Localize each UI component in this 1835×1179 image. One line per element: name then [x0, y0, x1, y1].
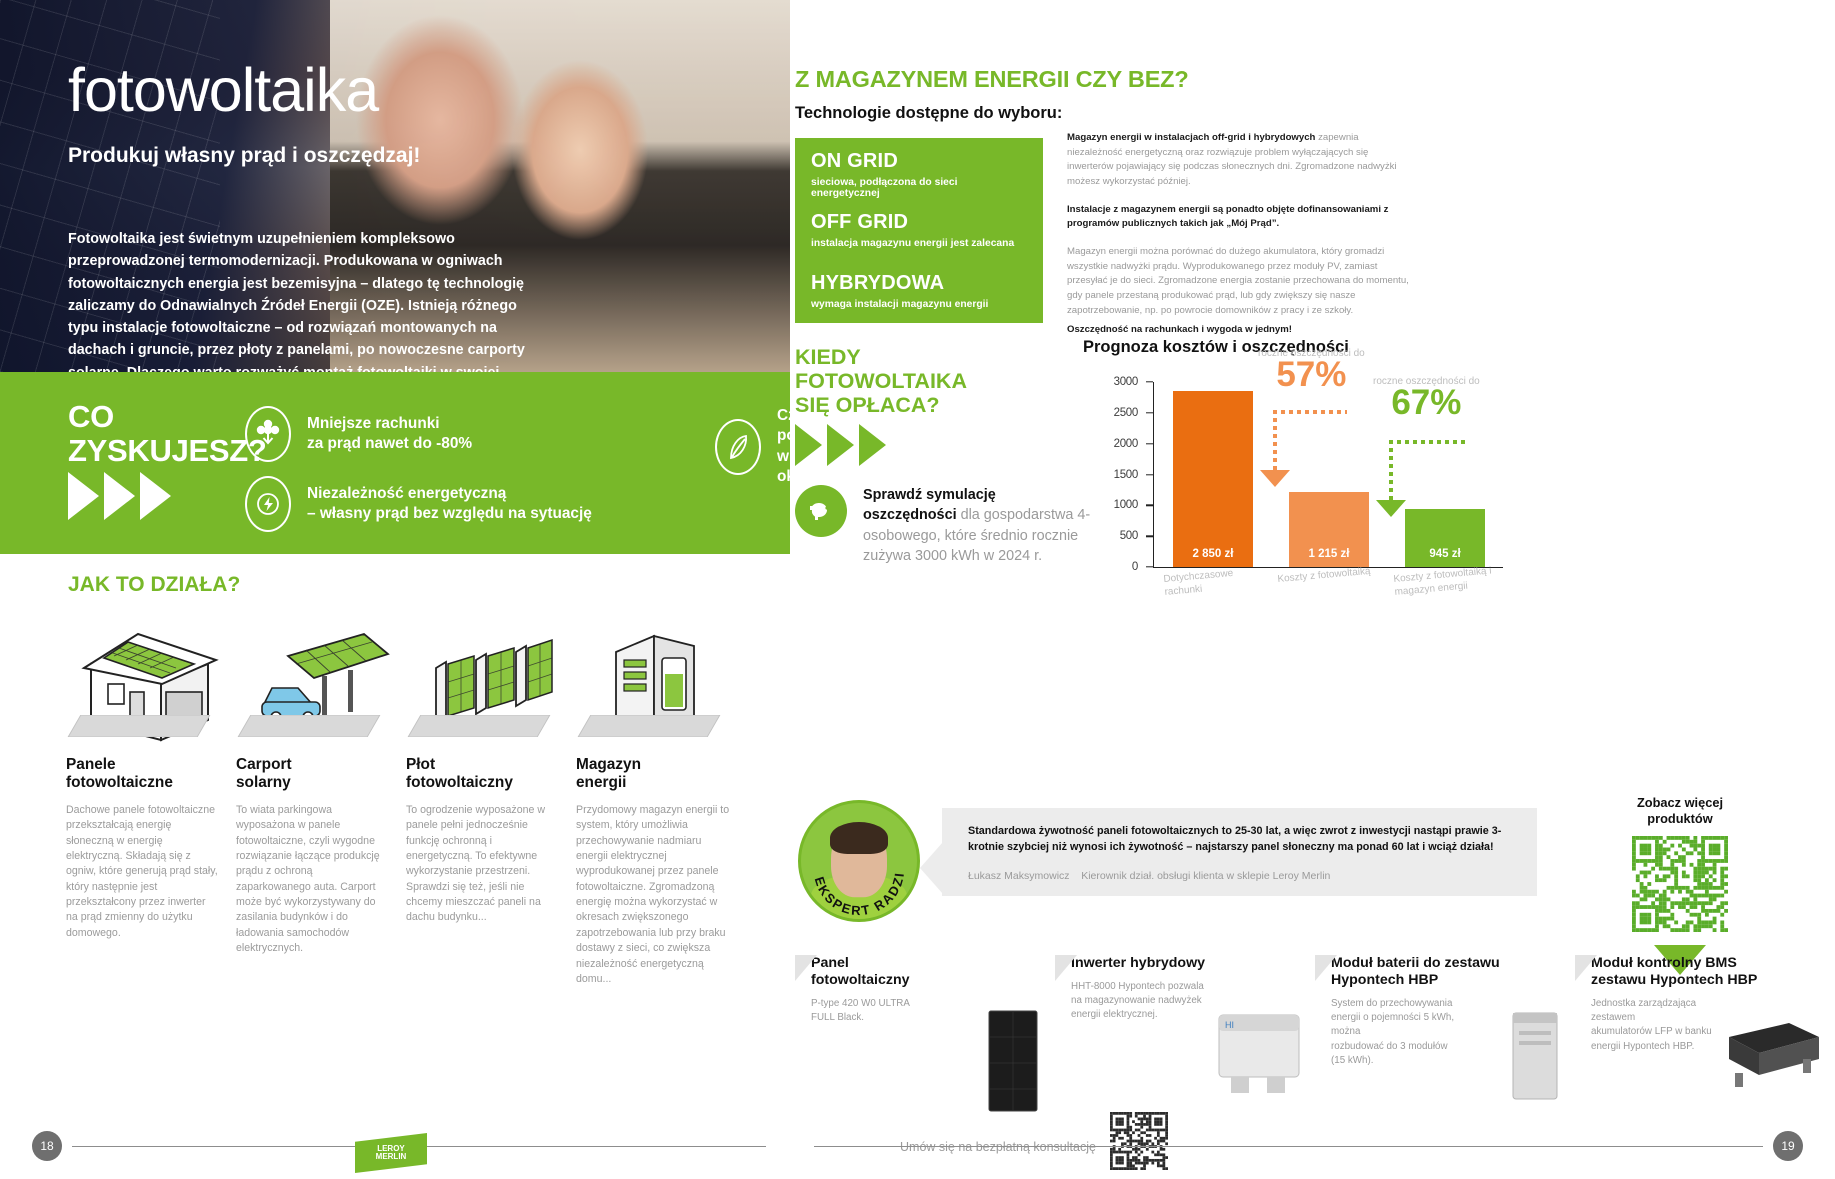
- platform-shape: [68, 715, 211, 737]
- tech-desc: sieciowa, podłączona do sieci energetycz…: [811, 177, 1029, 199]
- annotation-value: 57%: [1258, 357, 1365, 392]
- benefit-label: Mniejsze rachunki za prąd nawet do -80%: [307, 414, 472, 455]
- chart-bar-value: 2 850 zł: [1173, 548, 1253, 560]
- product-text: HHT-8000 Hypontech pozwala na magazynowa…: [1071, 980, 1221, 1023]
- arrow-right-icon: [827, 424, 854, 466]
- y-tick-mark: [1146, 443, 1153, 444]
- chart-bar-cell: 2 850 zł: [1155, 382, 1271, 567]
- annotation-connector-h: [1389, 440, 1465, 444]
- benefit-item-bills: Mniejsze rachunki za prąd nawet do -80%: [245, 406, 472, 462]
- chart-bar: 945 zł: [1405, 509, 1485, 567]
- tech-name: OFF GRID: [811, 211, 1029, 234]
- y-tick-label: 3000: [1114, 376, 1138, 388]
- step-text: To wiata parkingowa wyposażona w panele …: [236, 803, 390, 957]
- product-text: P-type 420 W0 ULTRA FULL Black.: [811, 997, 961, 1025]
- y-tick-label: 2000: [1114, 438, 1138, 450]
- qr-block[interactable]: Zobacz więcej produktów: [1595, 795, 1765, 975]
- hero-photo: fotowoltaika Produkuj własny prąd i oszc…: [0, 0, 790, 372]
- y-tick-mark: [1146, 505, 1153, 506]
- when-worth-heading: KIEDY FOTOWOLTAIKA SIĘ OPŁACA?: [795, 345, 967, 417]
- arrow-right-icon: [140, 472, 171, 520]
- chart-y-axis: 050010001500200025003000: [1083, 382, 1147, 567]
- y-tick-label: 0: [1132, 561, 1138, 573]
- arrow-right-icon: [795, 424, 822, 466]
- expert-author: Łukasz Maksymowicz Kierownik dział. obsł…: [968, 870, 1517, 882]
- y-tick-mark: [1146, 412, 1153, 413]
- step-item-carport: Carport solarny To wiata parkingowa wypo…: [236, 612, 406, 987]
- hero-text-block: fotowoltaika Produkuj własny prąd i oszc…: [68, 58, 598, 168]
- left-page: fotowoltaika Produkuj własny prąd i oszc…: [0, 0, 790, 1179]
- expert-author-role: Kierownik dział. obsługi klienta w sklep…: [1081, 870, 1330, 882]
- x-axis-label-0: Dotychczasowe rachunki: [1163, 565, 1273, 600]
- y-tick-label: 500: [1120, 530, 1138, 542]
- steps-list: Panele fotowoltaiczne Dachowe panele fot…: [66, 612, 766, 987]
- step-text: Dachowe panele fotowoltaiczne przekształ…: [66, 803, 220, 941]
- cta-qr-code-icon[interactable]: [1110, 1112, 1168, 1170]
- arrow-right-icon: [859, 424, 886, 466]
- cta-text: Umów się na bezpłatną konsultację: [900, 1140, 1096, 1154]
- house-with-panels-icon: [66, 612, 236, 752]
- paragraph-3: Magazyn energii można porównać do dużego…: [1067, 245, 1409, 318]
- solar-fence-icon: [406, 612, 576, 752]
- storage-description-column: Magazyn energii w instalacjach off-grid …: [1067, 131, 1409, 351]
- annotation-67: roczne oszczędności do 67%: [1373, 376, 1480, 420]
- x-axis-label-2: Koszty z fotowoltaiką i magazyn energii: [1393, 565, 1503, 600]
- svg-text:HI: HI: [1225, 1020, 1234, 1030]
- section-title-storage: Z MAGAZYNEM ENERGII CZY BEZ?: [795, 66, 1188, 93]
- section-subtitle-technologies: Technologie dostępne do wyboru:: [795, 104, 1062, 123]
- product-card-bms[interactable]: Moduł kontrolny BMS zestawu Hypontech HB…: [1575, 955, 1835, 1068]
- tech-desc: instalacja magazynu energii jest zalecan…: [811, 238, 1029, 249]
- battery-module-product-icon: [1505, 1007, 1567, 1107]
- y-tick-label: 1500: [1114, 469, 1138, 481]
- qr-caption: Zobacz więcej produktów: [1595, 795, 1765, 826]
- expert-quote-bubble: Standardowa żywotność paneli fotowoltaic…: [942, 808, 1537, 896]
- expert-quote: Standardowa żywotność paneli fotowoltaic…: [968, 824, 1517, 856]
- annotation-arrow-down-icon: [1260, 470, 1290, 487]
- how-it-works-heading: JAK TO DZIAŁA?: [68, 573, 240, 597]
- annotation-connector-v: [1389, 440, 1393, 502]
- benefits-band: CO ZYSKUJESZ? Mniejsze rachunki za prąd …: [0, 372, 790, 554]
- platform-shape: [408, 715, 551, 737]
- solar-panel-product-icon: [979, 1007, 1047, 1117]
- inverter-product-icon: HI: [1211, 1007, 1307, 1099]
- y-tick-label: 1000: [1114, 499, 1138, 511]
- hero-subtitle: Produkuj własny prąd i oszczędzaj!: [68, 144, 598, 168]
- annotation-57: roczne oszczędności do 57%: [1258, 348, 1365, 392]
- arrow-group-icon: [68, 472, 171, 520]
- product-card-battery[interactable]: Moduł baterii do zestawu Hypontech HBP S…: [1315, 955, 1575, 1068]
- simulation-text: Sprawdź symulację oszczędności dla gospo…: [863, 485, 1095, 567]
- step-text: To ogrodzenie wyposażone w panele pełni …: [406, 803, 560, 926]
- energy-bolt-icon: [245, 476, 291, 532]
- annotation-connector-v: [1273, 410, 1277, 472]
- step-heading: Magazyn energii: [576, 756, 746, 793]
- page-number-right: 19: [1773, 1131, 1803, 1161]
- product-card-panel[interactable]: Panel fotowoltaiczny P-type 420 W0 ULTRA…: [795, 955, 1055, 1068]
- bms-module-product-icon: [1719, 1007, 1827, 1095]
- annotation-arrow-down-icon: [1376, 500, 1406, 517]
- annotation-connector-h: [1273, 410, 1347, 414]
- spread: fotowoltaika Produkuj własny prąd i oszc…: [0, 0, 1835, 1179]
- y-tick-label: 2500: [1114, 407, 1138, 419]
- arrow-group-icon: [795, 424, 886, 466]
- step-text: Przydomowy magazyn energii to system, kt…: [576, 803, 730, 987]
- platform-shape: [238, 715, 381, 737]
- expert-badge-ring-text: EKSPERT RADZI: [798, 800, 920, 922]
- y-tick-mark: [1146, 474, 1153, 475]
- carport-icon: [236, 612, 406, 752]
- tech-name: HYBRYDOWA: [811, 272, 1029, 295]
- expert-author-name: Łukasz Maksymowicz: [968, 870, 1070, 882]
- tech-card-off-grid[interactable]: OFF GRID instalacja magazynu energii jes…: [795, 199, 1043, 262]
- arrow-right-icon: [104, 472, 135, 520]
- svg-text:EKSPERT RADZI: EKSPERT RADZI: [812, 871, 907, 919]
- arrow-right-icon: [68, 472, 99, 520]
- product-heading: Panel fotowoltaiczny: [811, 955, 1055, 989]
- paragraph-2: Instalacje z magazynem energii są ponadt…: [1067, 203, 1409, 232]
- hero-body-text: Fotowoltaika jest świetnym uzupełnieniem…: [68, 228, 548, 372]
- leaf-icon: [715, 419, 761, 475]
- product-heading: Inwerter hybrydowy: [1071, 955, 1315, 972]
- y-tick-mark: [1146, 381, 1153, 382]
- annotation-value: 67%: [1373, 385, 1480, 420]
- energy-storage-icon: [576, 612, 746, 752]
- product-heading: Moduł baterii do zestawu Hypontech HBP: [1331, 955, 1575, 989]
- step-heading: Panele fotowoltaiczne: [66, 756, 236, 793]
- tech-card-hybrid[interactable]: HYBRYDOWA wymaga instalacji magazynu ene…: [795, 260, 1043, 323]
- product-heading: Moduł kontrolny BMS zestawu Hypontech HB…: [1591, 955, 1835, 989]
- y-tick-mark: [1146, 535, 1153, 536]
- page-number-left: 18: [32, 1131, 62, 1161]
- simulation-callout: Sprawdź symulację oszczędności dla gospo…: [795, 485, 1095, 567]
- footer-rule: [814, 1146, 1763, 1148]
- tech-name: ON GRID: [811, 150, 1029, 173]
- paragraph-1-lead: Magazyn energii w instalacjach off-grid …: [1067, 132, 1315, 143]
- chart-plot-area: 050010001500200025003000 2 850 zł1 215 z…: [1083, 382, 1583, 567]
- benefit-item-independence: Niezależność energetyczną – własny prąd …: [245, 476, 592, 532]
- chart-bar-value: 945 zł: [1405, 548, 1485, 560]
- benefit-label: Niezależność energetyczną – własny prąd …: [307, 484, 592, 525]
- chart-bar-value: 1 215 zł: [1289, 548, 1369, 560]
- product-card-inverter[interactable]: Inwerter hybrydowy HHT-8000 Hypontech po…: [1055, 955, 1315, 1068]
- step-item-panels: Panele fotowoltaiczne Dachowe panele fot…: [66, 612, 236, 987]
- step-item-fence: Płot fotowoltaiczny To ogrodzenie wyposa…: [406, 612, 576, 987]
- benefits-heading: CO ZYSKUJESZ?: [68, 400, 267, 468]
- product-text: System do przechowywania energii o pojem…: [1331, 997, 1481, 1068]
- step-heading: Płot fotowoltaiczny: [406, 756, 576, 793]
- products-list: Panel fotowoltaiczny P-type 420 W0 ULTRA…: [795, 955, 1835, 1068]
- right-page: Z MAGAZYNEM ENERGII CZY BEZ? Technologie…: [790, 0, 1835, 1179]
- step-heading: Carport solarny: [236, 756, 406, 793]
- paragraph-1: Magazyn energii w instalacjach off-grid …: [1067, 131, 1409, 190]
- paragraph-4: Oszczędność na rachunkach i wygoda w jed…: [1067, 323, 1409, 338]
- brand-logo: LEROYMERLIN: [355, 1133, 427, 1173]
- chart-bar: 1 215 zł: [1289, 492, 1369, 567]
- piggy-bank-icon: [795, 485, 847, 537]
- qr-code-icon[interactable]: [1632, 836, 1728, 932]
- chart-bar: 2 850 zł: [1173, 391, 1253, 567]
- money-down-icon: [245, 406, 291, 462]
- platform-shape: [578, 715, 721, 737]
- tech-desc: wymaga instalacji magazynu energii: [811, 299, 1029, 310]
- page-title: fotowoltaika: [68, 58, 598, 122]
- savings-forecast-chart: Prognoza kosztów i oszczędności 05001000…: [1083, 338, 1603, 613]
- y-tick-mark: [1146, 566, 1153, 567]
- step-item-storage: Magazyn energii Przydomowy magazyn energ…: [576, 612, 746, 987]
